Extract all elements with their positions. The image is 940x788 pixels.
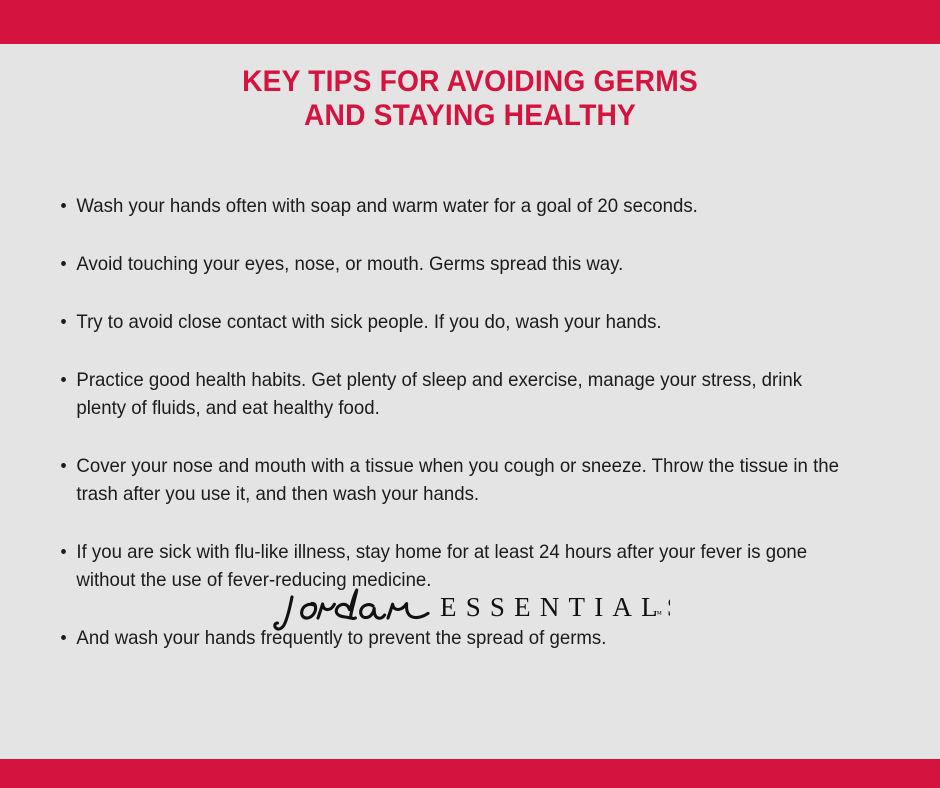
bottom-accent-bar: [0, 759, 940, 788]
page-title: KEY TIPS FOR AVOIDING GERMS AND STAYING …: [28, 44, 912, 133]
list-item: Wash your hands often with soap and warm…: [0, 192, 898, 220]
bullet-dot-icon: [61, 635, 66, 640]
bullet-dot-icon: [61, 261, 66, 266]
list-item: Avoid touching your eyes, nose, or mouth…: [0, 250, 898, 278]
bullet-dot-icon: [61, 549, 66, 554]
bullet-dot-icon: [61, 319, 66, 324]
top-accent-bar: [0, 0, 940, 44]
jordan-essentials-logo-icon: ESSENTIALS ™: [270, 580, 670, 634]
list-item: Practice good health habits. Get plenty …: [0, 366, 898, 422]
brand-logo: ESSENTIALS ™: [0, 580, 940, 634]
logo-trademark-icon: ™: [653, 609, 662, 619]
page-title-line-2: AND STAYING HEALTHY: [28, 99, 912, 133]
poster: KEY TIPS FOR AVOIDING GERMS AND STAYING …: [0, 0, 940, 788]
page-title-line-1: KEY TIPS FOR AVOIDING GERMS: [28, 65, 912, 99]
list-item-text: Practice good health habits. Get plenty …: [76, 369, 802, 419]
logo-essentials-text: ESSENTIALS: [440, 592, 670, 622]
list-item: Cover your nose and mouth with a tissue …: [0, 452, 898, 508]
bullet-dot-icon: [61, 203, 66, 208]
list-item-text: Cover your nose and mouth with a tissue …: [76, 455, 839, 505]
list-item-text: Wash your hands often with soap and warm…: [76, 195, 697, 217]
list-item: Try to avoid close contact with sick peo…: [0, 308, 898, 336]
bullet-dot-icon: [61, 463, 66, 468]
list-item-text: Avoid touching your eyes, nose, or mouth…: [76, 253, 623, 275]
poster-content: KEY TIPS FOR AVOIDING GERMS AND STAYING …: [0, 44, 940, 759]
list-item-text: Try to avoid close contact with sick peo…: [76, 311, 661, 333]
bullet-dot-icon: [61, 377, 66, 382]
